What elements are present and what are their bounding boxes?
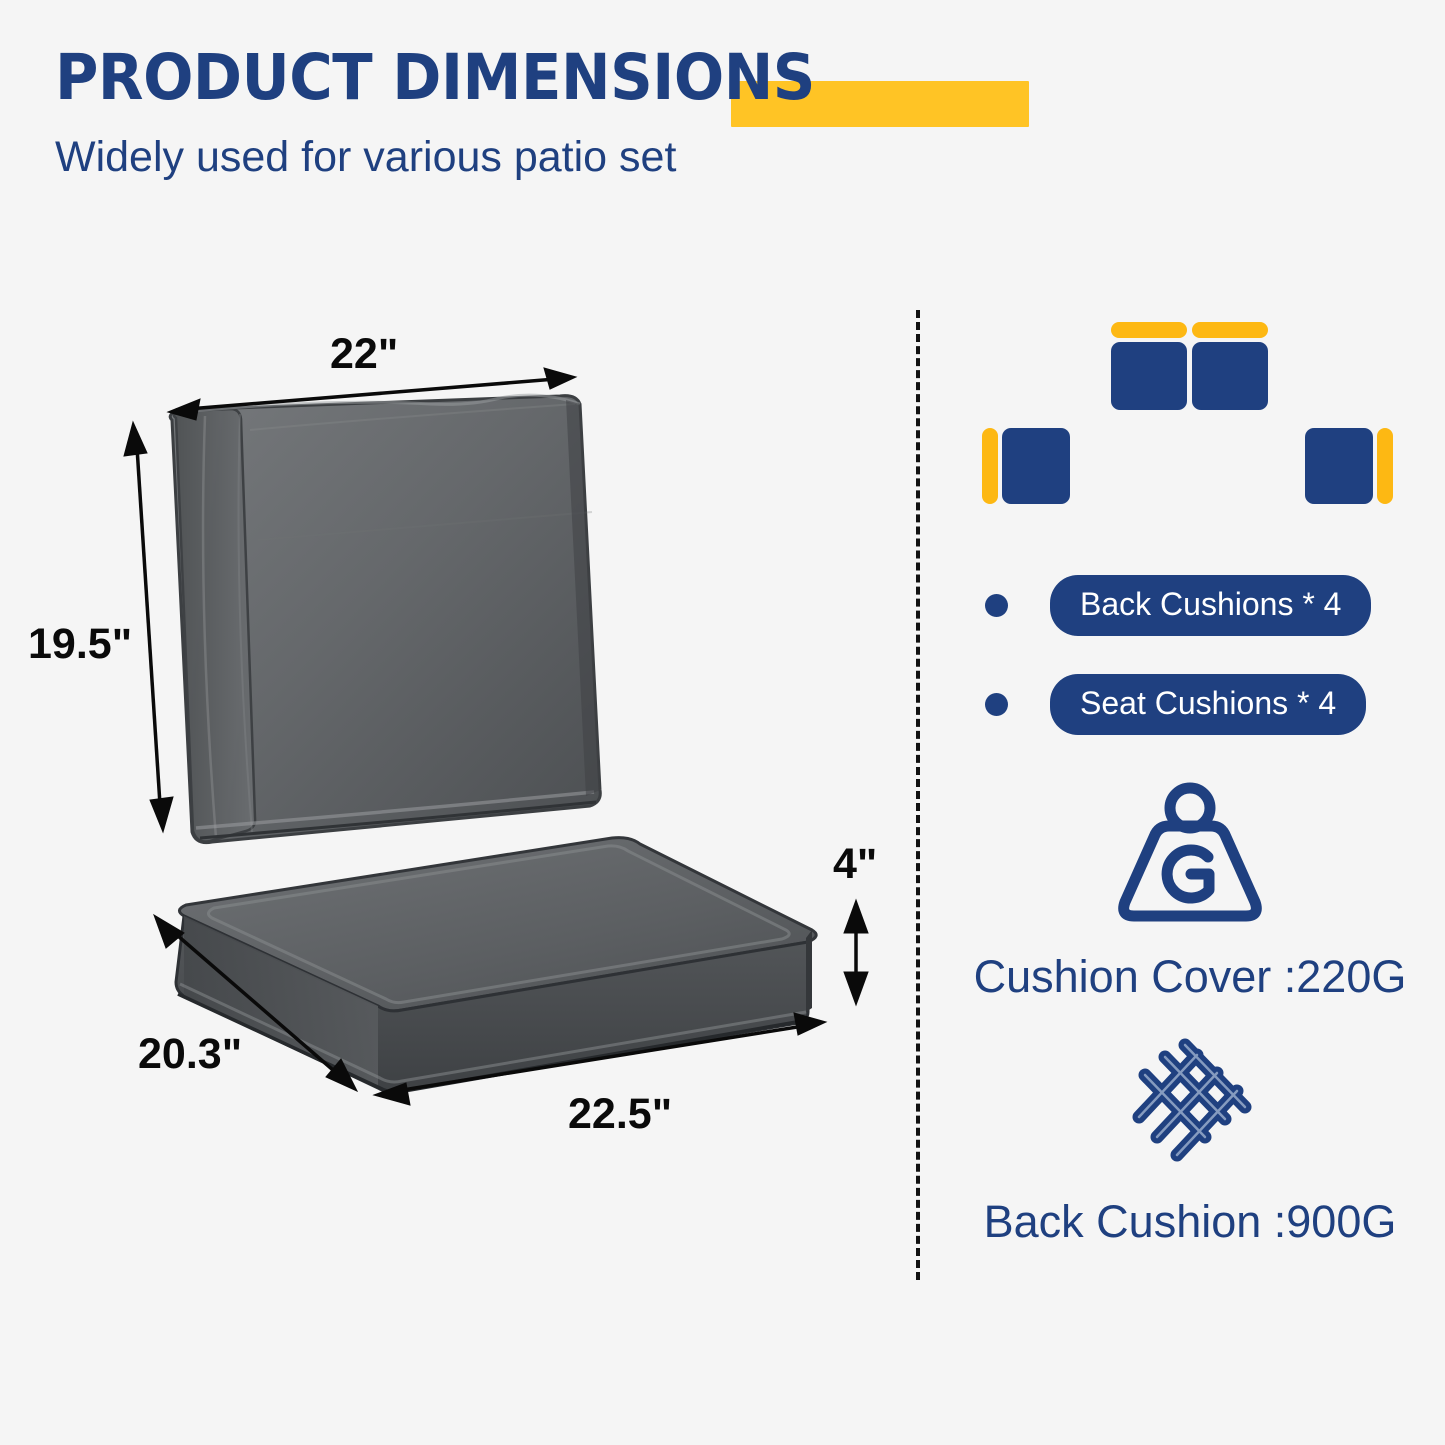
seat-cushion-shape bbox=[176, 838, 816, 1093]
product-illustration: 22" 19.5" 20.3" 22.5" 4" bbox=[0, 0, 900, 1200]
cushion-count-list: Back Cushions * 4 Seat Cushions * 4 bbox=[985, 575, 1405, 773]
chair-left-back-cushion bbox=[982, 428, 998, 504]
back-cushion-weight-spec: Back Cushion :900G bbox=[940, 1025, 1440, 1248]
loveseat-right-back-cushion bbox=[1192, 322, 1268, 338]
infographic-canvas: PRODUCT DIMENSIONS Widely used for vario… bbox=[0, 0, 1445, 1445]
cushion-cover-weight-label: Cushion Cover :220G bbox=[940, 951, 1440, 1003]
loveseat-left-back-cushion bbox=[1111, 322, 1187, 338]
patio-set-layout-icon bbox=[960, 300, 1420, 530]
title-wrap: PRODUCT DIMENSIONS bbox=[55, 45, 864, 111]
loveseat-right-seat-cushion bbox=[1192, 342, 1268, 410]
arrow-4in bbox=[844, 900, 868, 1005]
weight-g-icon bbox=[1105, 780, 1275, 930]
cushion-drawing bbox=[0, 0, 900, 1200]
page-title: PRODUCT DIMENSIONS bbox=[55, 45, 815, 111]
back-cushion-weight-label: Back Cushion :900G bbox=[940, 1196, 1440, 1248]
cushion-cover-weight-spec: Cushion Cover :220G bbox=[940, 780, 1440, 1003]
back-cushion-shape bbox=[170, 395, 600, 842]
section-divider bbox=[916, 310, 920, 1280]
back-cushions-count-badge: Back Cushions * 4 bbox=[1050, 575, 1371, 636]
chair-left-seat-cushion bbox=[1002, 428, 1070, 504]
dimension-label-width-22: 22" bbox=[330, 330, 398, 379]
seat-cushions-count-badge: Seat Cushions * 4 bbox=[1050, 674, 1366, 735]
bullet-icon bbox=[985, 693, 1008, 716]
dimension-label-thickness-4: 4" bbox=[833, 840, 877, 889]
list-item: Seat Cushions * 4 bbox=[985, 674, 1405, 735]
fabric-weave-icon bbox=[1105, 1025, 1275, 1175]
loveseat-left-seat-cushion bbox=[1111, 342, 1187, 410]
dimension-label-height-19-5: 19.5" bbox=[28, 620, 132, 669]
dimension-label-depth-20-3: 20.3" bbox=[138, 1030, 242, 1079]
list-item: Back Cushions * 4 bbox=[985, 575, 1405, 636]
bullet-icon bbox=[985, 594, 1008, 617]
chair-right-seat-cushion bbox=[1305, 428, 1373, 504]
chair-right-back-cushion bbox=[1377, 428, 1393, 504]
dimension-label-width-22-5: 22.5" bbox=[568, 1090, 672, 1139]
